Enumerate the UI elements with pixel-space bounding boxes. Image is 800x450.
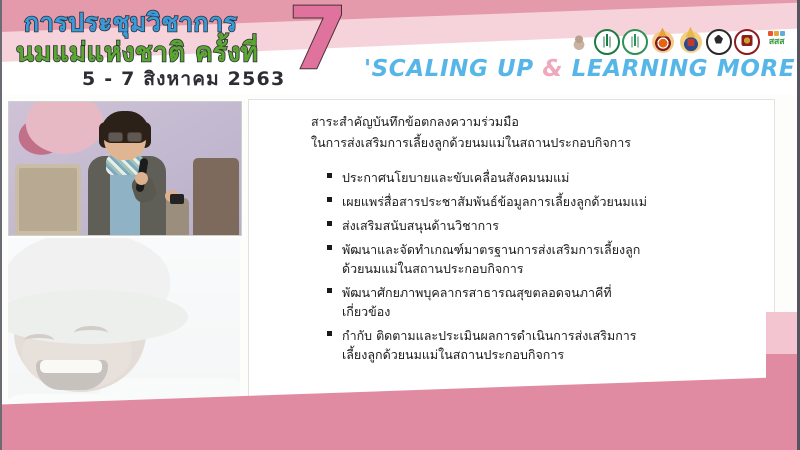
bullet-square-icon <box>327 288 332 293</box>
logo-royal-institution-icon <box>734 29 760 55</box>
logo-ministry-labour <box>650 27 675 56</box>
list-item: เผยแพร่สื่อสารประชาสัมพันธ์ข้อมูลการเลี้… <box>327 192 747 211</box>
bullet-line: ส่งเสริมสนับสนุนด้านวิชาการ <box>342 218 499 233</box>
list-item: ส่งเสริมสนับสนุนด้านวิชาการ <box>327 216 747 235</box>
list-item: พัฒนาศักยภาพบุคลากรสาธารณสุขตลอดจนภาคีที… <box>327 283 747 321</box>
presentation-slide: การประชุมวิชาการ นมแม่แห่งชาติ ครั้งที่ … <box>0 0 800 450</box>
bullet-square-icon <box>327 197 332 202</box>
intro-line-1: สาระสำคัญบันทึกข้อตกลงความร่วมมือ <box>311 112 731 133</box>
logo-department-health <box>622 27 647 56</box>
bullet-line: ประกาศนโยบายและขับเคลื่อนสังคมนมแม่ <box>342 170 569 185</box>
content-panel: สาระสำคัญบันทึกข้อตกลงความร่วมมือ ในการส… <box>248 99 775 401</box>
bullet-line-continued: เกี่ยวข้อง <box>342 302 747 321</box>
header-banner: การประชุมวิชาการ นมแม่แห่งชาติ ครั้งที่ … <box>0 0 800 95</box>
tagline-ampersand: & <box>542 56 563 82</box>
logo-ministry-social-development-icon <box>680 31 702 53</box>
speaker-chair-left <box>15 164 81 235</box>
left-edge-divider <box>0 0 2 450</box>
thaihealth-label: สสส <box>763 38 790 47</box>
bullet-line: พัฒนาและจัดทำเกณฑ์มาตรฐานการส่งเสริมการเ… <box>342 242 640 257</box>
bullet-line: พัฒนาศักยภาพบุคลากรสาธารณสุขตลอดจนภาคีที… <box>342 285 612 300</box>
child-eye-right <box>74 326 108 340</box>
speaker-hand <box>135 172 148 185</box>
conference-date: 5 - 7 สิงหาคม 2563 <box>82 64 285 94</box>
logo-thaihealth-sss-icon: สสส <box>763 31 790 53</box>
bullet-square-icon <box>327 331 332 336</box>
bullet-line: กำกับ ติดตามและประเมินผลการดำเนินการส่งเ… <box>342 328 637 343</box>
bullet-list: ประกาศนโยบายและขับเคลื่อนสังคมนมแม่ เผยแ… <box>327 168 747 369</box>
child-photo-inner <box>8 238 240 414</box>
logo-ministry-public-health-icon <box>594 29 620 55</box>
tagline-part-close: LEARNING MORE' <box>563 56 800 82</box>
child-photo <box>8 238 240 414</box>
bullet-square-icon <box>327 245 332 250</box>
bullet-line: เผยแพร่สื่อสารประชาสัมพันธ์ข้อมูลการเลี้… <box>342 194 647 209</box>
logo-ministry-public-health <box>594 27 619 56</box>
speaker-photo <box>8 101 242 236</box>
sponsor-logos: สสส <box>566 27 791 56</box>
child-teeth <box>40 360 102 373</box>
bullet-line-continued: เลี้ยงลูกด้วยนมแม่ในสถานประกอบกิจการ <box>342 345 747 364</box>
logo-thaihealth-sss: สสส <box>762 27 791 56</box>
presentation-remote-icon <box>170 194 184 204</box>
speaker-glasses-icon <box>108 132 142 140</box>
list-item: พัฒนาและจัดทำเกณฑ์มาตรฐานการส่งเสริมการเ… <box>327 240 747 278</box>
logo-department-health-icon <box>622 29 648 55</box>
bullet-square-icon <box>327 173 332 178</box>
list-item: กำกับ ติดตามและประเมินผลการดำเนินการส่งเ… <box>327 326 747 364</box>
logo-ministry-labour-icon <box>652 31 674 53</box>
logo-royal-institution <box>734 27 759 56</box>
bullet-line-continued: ด้วยนมแม่ในสถานประกอบกิจการ <box>342 259 747 278</box>
child-eye-left <box>24 334 54 347</box>
speaker-chair-right <box>193 158 239 235</box>
logo-breastfeeding-foundation <box>566 27 591 56</box>
list-item: ประกาศนโยบายและขับเคลื่อนสังคมนมแม่ <box>327 168 747 187</box>
conference-tagline: 'SCALING UP & LEARNING MORE' <box>364 56 800 82</box>
logo-ministry-social-development <box>678 27 703 56</box>
intro-line-2: ในการส่งเสริมการเลี้ยงลูกด้วยนมแม่ในสถาน… <box>311 133 731 154</box>
logo-breastfeeding-foundation-icon <box>568 31 590 53</box>
logo-ministry-industry <box>706 27 731 56</box>
logo-ministry-industry-icon <box>706 29 732 55</box>
tagline-part-open: 'SCALING UP <box>364 56 542 82</box>
intro-heading: สาระสำคัญบันทึกข้อตกลงความร่วมมือ ในการส… <box>311 112 731 153</box>
bullet-square-icon <box>327 221 332 226</box>
edition-number: 7 <box>288 0 348 82</box>
corner-accent-light <box>766 312 800 354</box>
